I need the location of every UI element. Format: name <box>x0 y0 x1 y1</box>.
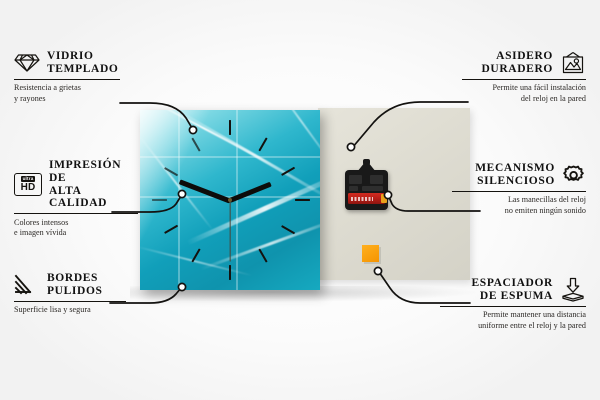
divider <box>452 191 586 192</box>
divider <box>440 306 586 307</box>
feature-description: Superficie lisa y segura <box>14 305 126 315</box>
feature-title-line1: VIDRIO <box>47 50 119 63</box>
feature-mecanismo-silencioso: MECANISMO SILENCIOSO Las manecillas del … <box>452 162 586 216</box>
ultra-hd-icon: ultra HD <box>14 173 42 196</box>
feature-title-row: VIDRIO TEMPLADO <box>14 50 120 76</box>
feature-desc-line1: Las manecillas del reloj <box>452 195 586 205</box>
diamond-icon <box>14 52 40 73</box>
divider <box>14 301 126 302</box>
feature-desc-line2: no emiten ningún sonido <box>452 206 586 216</box>
feature-asidero-duradero: ASIDERO DURADERO Permite una fácil insta… <box>462 50 586 104</box>
feature-vidrio-templado: VIDRIO TEMPLADO Resistencia a grietas y … <box>14 50 120 104</box>
feature-desc-line1: Permite mantener una distancia <box>440 310 586 320</box>
feature-title-row: ultra HD IMPRESIÓN DE ALTA CALIDAD <box>14 159 138 210</box>
feature-title-line1: ESPACIADOR <box>440 277 553 290</box>
feature-title: IMPRESIÓN DE ALTA CALIDAD <box>49 159 138 210</box>
feature-title-line2: ALTA CALIDAD <box>49 185 138 211</box>
polished-edges-icon <box>14 274 40 295</box>
feature-title-line2: PULIDOS <box>47 285 103 298</box>
feature-title-row: MECANISMO SILENCIOSO <box>452 162 586 188</box>
connector-endpoint <box>374 267 381 274</box>
feature-title-row: ESPACIADOR DE ESPUMA <box>440 277 586 303</box>
feature-description: Resistencia a grietas y rayones <box>14 83 120 103</box>
feature-title: ESPACIADOR DE ESPUMA <box>440 277 553 303</box>
feature-desc-line2: uniforme entre el reloj y la pared <box>440 321 586 331</box>
feature-title-line1: MECANISMO <box>452 162 555 175</box>
feature-title-line2: DE ESPUMA <box>440 290 553 303</box>
feature-title-line2: TEMPLADO <box>47 63 119 76</box>
divider <box>462 79 586 80</box>
feature-title-line1: ASIDERO <box>462 50 553 63</box>
feature-title-line2: SILENCIOSO <box>452 175 555 188</box>
feature-desc-line2: del reloj en la pared <box>462 94 586 104</box>
feature-title: BORDES PULIDOS <box>47 272 103 298</box>
feature-bordes-pulidos: BORDES PULIDOS Superficie lisa y segura <box>14 272 126 316</box>
feature-description: Permite mantener una distancia uniforme … <box>440 310 586 330</box>
feature-desc-line1: Colores intensos <box>14 218 138 228</box>
feature-title-line1: BORDES <box>47 272 103 285</box>
feature-title-line2: DURADERO <box>462 63 553 76</box>
feature-espaciador-de-espuma: ESPACIADOR DE ESPUMA Permite mantener un… <box>440 277 586 331</box>
feature-title: ASIDERO DURADERO <box>462 50 553 76</box>
feature-title-row: ASIDERO DURADERO <box>462 50 586 76</box>
feature-title-line1: IMPRESIÓN DE <box>49 159 138 185</box>
gear-icon <box>562 163 586 187</box>
hanging-frame-icon <box>560 51 586 75</box>
feature-title: MECANISMO SILENCIOSO <box>452 162 555 188</box>
feature-desc-line1: Permite una fácil instalación <box>462 83 586 93</box>
infographic-canvas: VIDRIO TEMPLADO Resistencia a grietas y … <box>0 0 600 400</box>
feature-description: Colores intensos e imagen vívida <box>14 218 138 238</box>
divider <box>14 213 138 214</box>
connector-endpoint <box>178 283 185 290</box>
feature-description: Permite una fácil instalación del reloj … <box>462 83 586 103</box>
feature-title: VIDRIO TEMPLADO <box>47 50 119 76</box>
feature-desc-line1: Resistencia a grietas <box>14 83 120 93</box>
connector-endpoint <box>178 190 185 197</box>
ultra-hd-icon-main: HD <box>21 183 36 193</box>
divider <box>14 79 120 80</box>
feature-description: Las manecillas del reloj no emiten ningú… <box>452 195 586 215</box>
feature-title-row: BORDES PULIDOS <box>14 272 126 298</box>
connector-endpoint <box>189 126 196 133</box>
feature-impresion-alta-calidad: ultra HD IMPRESIÓN DE ALTA CALIDAD Color… <box>14 159 138 238</box>
connector-endpoint <box>347 143 354 150</box>
feature-desc-line2: e imagen vívida <box>14 228 138 238</box>
connector-endpoint <box>384 191 391 198</box>
foam-spacer-icon <box>560 277 586 302</box>
feature-desc-line2: y rayones <box>14 94 120 104</box>
feature-desc-line1: Superficie lisa y segura <box>14 305 126 315</box>
